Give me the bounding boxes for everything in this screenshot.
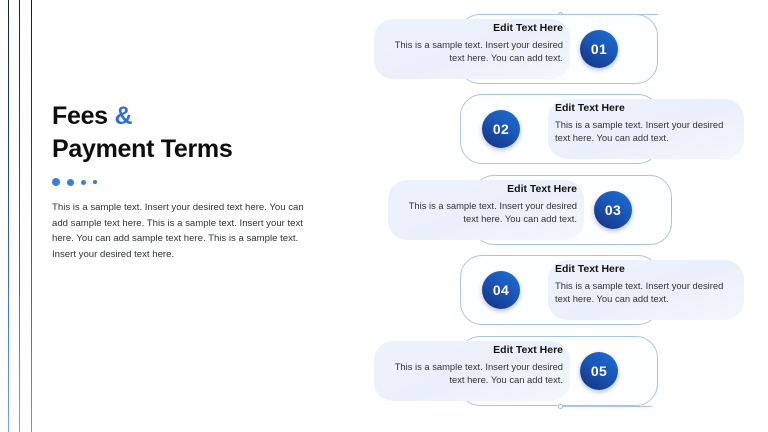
decor-rail-3 <box>31 0 32 432</box>
step-heading-02: Edit Text Here <box>555 102 738 115</box>
step-text-02: Edit Text Here This is a sample text. In… <box>555 102 738 144</box>
step-heading-03: Edit Text Here <box>394 183 577 196</box>
decor-dot-large-1 <box>52 178 60 186</box>
decor-rail-1 <box>8 0 9 432</box>
step-text-04: Edit Text Here This is a sample text. In… <box>555 263 738 305</box>
step-text-03: Edit Text Here This is a sample text. In… <box>394 183 577 225</box>
decor-dot-small <box>93 180 97 184</box>
step-number-badge-05: 05 <box>580 352 618 390</box>
step-text-05: Edit Text Here This is a sample text. In… <box>380 344 563 386</box>
step-desc-01: This is a sample text. Insert your desir… <box>380 38 563 65</box>
step-card-04[interactable]: 04 Edit Text Here This is a sample text.… <box>460 255 744 325</box>
step-number-badge-02: 02 <box>482 110 520 148</box>
connector-dot-bottom <box>558 404 563 409</box>
step-heading-04: Edit Text Here <box>555 263 738 276</box>
step-card-03[interactable]: Edit Text Here This is a sample text. In… <box>388 175 672 245</box>
step-number-badge-04: 04 <box>482 271 520 309</box>
decor-dots <box>52 177 314 187</box>
step-number-badge-01: 01 <box>580 30 618 68</box>
page-body-text: This is a sample text. Insert your desir… <box>52 200 308 263</box>
steps-infographic: Edit Text Here This is a sample text. In… <box>356 0 768 432</box>
step-card-02[interactable]: 02 Edit Text Here This is a sample text.… <box>460 94 744 164</box>
page-title: Fees & Payment Terms <box>52 100 314 165</box>
decor-dot-large-2 <box>67 179 74 186</box>
step-heading-05: Edit Text Here <box>380 344 563 357</box>
step-heading-01: Edit Text Here <box>380 22 563 35</box>
page-title-line-2: Payment Terms <box>52 135 232 163</box>
left-text-pane: Fees & Payment Terms This is a sample te… <box>52 100 314 263</box>
step-number-badge-03: 03 <box>594 191 632 229</box>
page-title-line-1: Fees <box>52 102 114 130</box>
decor-rail-2 <box>19 0 20 432</box>
step-desc-05: This is a sample text. Insert your desir… <box>380 360 563 387</box>
page-title-ampersand: & <box>114 102 132 130</box>
step-desc-04: This is a sample text. Insert your desir… <box>555 279 738 306</box>
decor-dot-medium <box>81 180 86 185</box>
step-text-01: Edit Text Here This is a sample text. In… <box>380 22 563 64</box>
step-card-01[interactable]: Edit Text Here This is a sample text. In… <box>374 14 658 84</box>
step-desc-03: This is a sample text. Insert your desir… <box>394 199 577 226</box>
connector-line-bottom <box>562 406 652 407</box>
step-desc-02: This is a sample text. Insert your desir… <box>555 118 738 145</box>
step-card-05[interactable]: Edit Text Here This is a sample text. In… <box>374 336 658 406</box>
